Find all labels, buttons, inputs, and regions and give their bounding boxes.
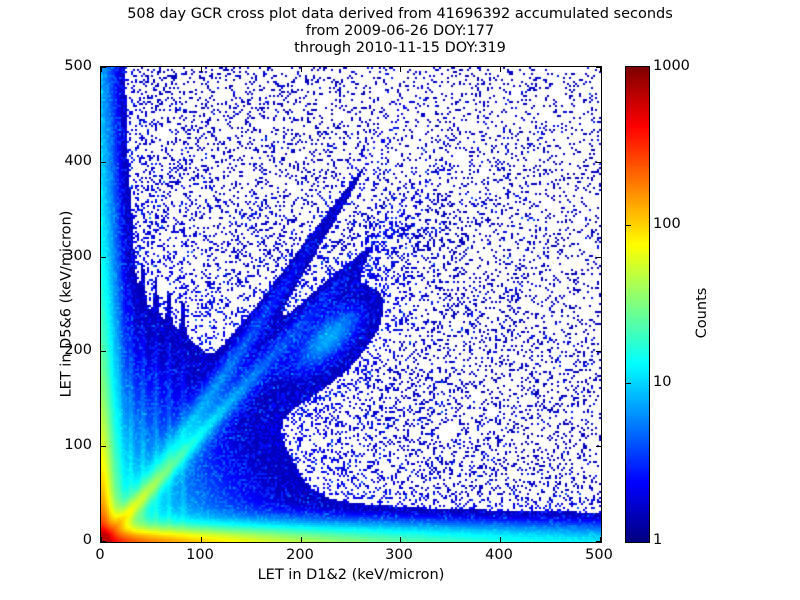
y-tick-mark (101, 257, 106, 258)
y-axis-title: LET in D5&6 (keV/micron) (59, 66, 75, 543)
figure-title-line-1: 508 day GCR cross plot data derived from… (0, 6, 800, 23)
y-tick-label: 0 (0, 532, 92, 548)
colorbar (625, 66, 650, 543)
y-tick-mark-right (596, 541, 601, 542)
y-tick-label: 100 (0, 437, 92, 453)
colorbar-gradient (626, 67, 649, 542)
x-axis-title: LET in D1&2 (keV/micron) (100, 567, 602, 583)
y-tick-mark (101, 162, 106, 163)
y-tick-mark (101, 541, 106, 542)
x-tick-mark-top (500, 67, 501, 72)
figure-title-line-3: through 2010-11-15 DOY:319 (0, 40, 800, 57)
colorbar-tick-mark (626, 383, 631, 384)
y-tick-mark-right (596, 162, 601, 163)
gcr-cross-plot-figure: 508 day GCR cross plot data derived from… (0, 0, 800, 600)
x-tick-mark (400, 537, 401, 542)
colorbar-tick-label: 10 (653, 374, 671, 390)
colorbar-tick-label: 1 (653, 532, 662, 548)
y-tick-label: 400 (0, 153, 92, 169)
y-tick-mark-right (596, 351, 601, 352)
x-tick-label: 300 (385, 547, 413, 563)
x-tick-mark (201, 537, 202, 542)
colorbar-tick-label: 100 (653, 216, 681, 232)
x-tick-mark-top (400, 67, 401, 72)
x-tick-label: 500 (585, 547, 613, 563)
y-tick-mark-right (596, 67, 601, 68)
colorbar-tick-mark (626, 225, 631, 226)
x-tick-mark-top (301, 67, 302, 72)
density-heatmap-canvas (101, 67, 601, 542)
y-tick-mark (101, 446, 106, 447)
x-tick-label: 100 (186, 547, 214, 563)
y-tick-label: 500 (0, 58, 92, 74)
figure-title-line-2: from 2009-06-26 DOY:177 (0, 23, 800, 40)
y-tick-mark-right (596, 446, 601, 447)
figure-title: 508 day GCR cross plot data derived from… (0, 6, 800, 57)
y-tick-label: 200 (0, 342, 92, 358)
colorbar-title: Counts (694, 223, 710, 403)
y-tick-mark (101, 351, 106, 352)
plot-area (100, 66, 602, 543)
x-tick-label: 0 (95, 547, 104, 563)
x-tick-label: 200 (286, 547, 314, 563)
y-tick-mark-right (596, 257, 601, 258)
x-tick-mark (500, 537, 501, 542)
colorbar-tick-label: 1000 (653, 58, 690, 74)
x-tick-mark-top (201, 67, 202, 72)
y-tick-mark (101, 67, 106, 68)
x-tick-mark (301, 537, 302, 542)
x-tick-label: 400 (485, 547, 513, 563)
y-tick-label: 300 (0, 248, 92, 264)
